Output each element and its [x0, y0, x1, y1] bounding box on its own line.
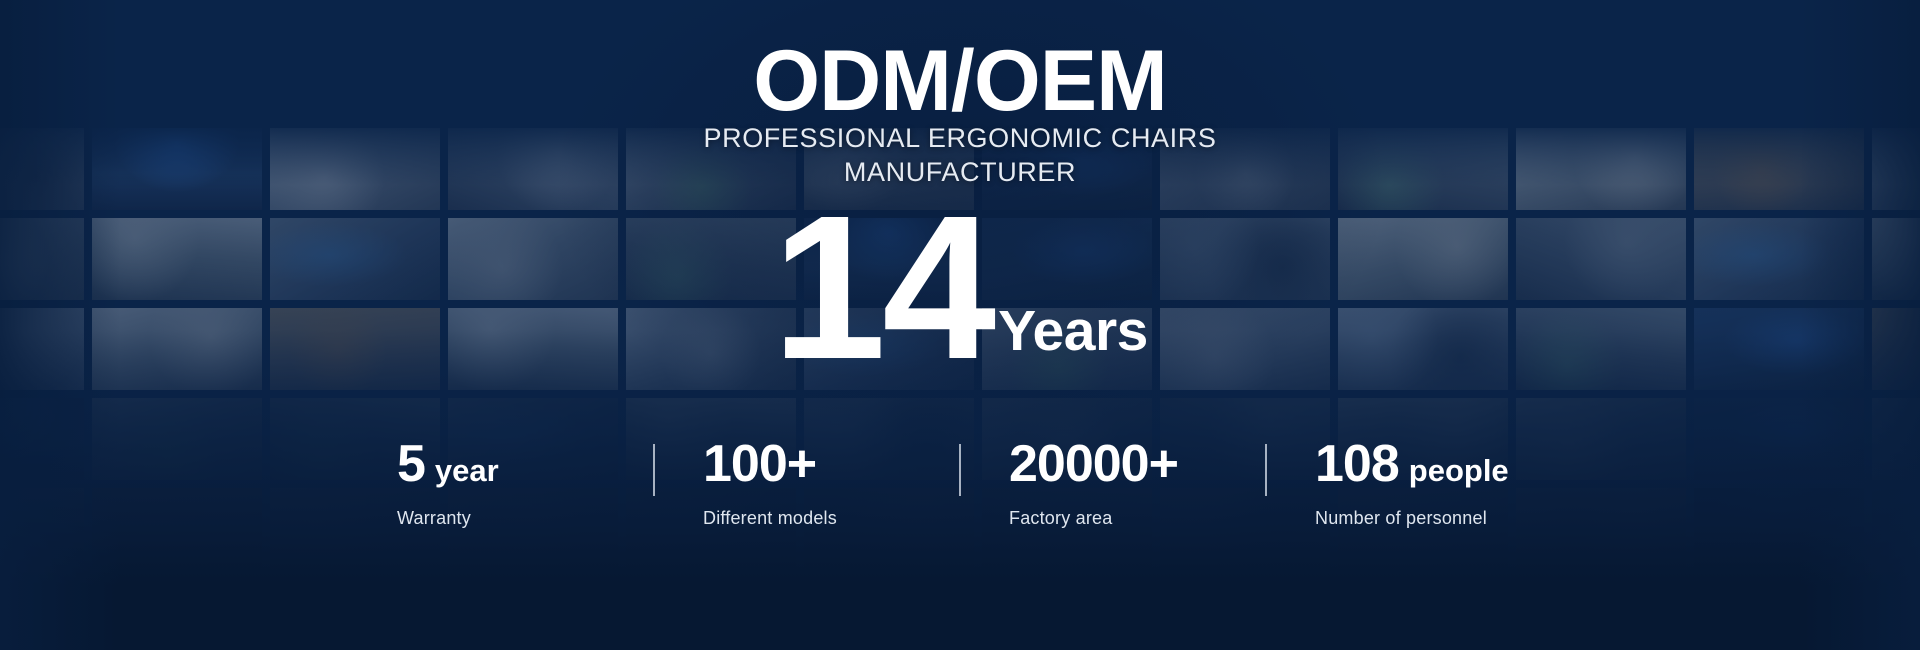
stat-headline: 108 people — [1315, 438, 1571, 490]
stat-headline: 20000+ — [1009, 438, 1265, 490]
stat-divider — [959, 444, 961, 496]
stat-headline: 5 year — [397, 438, 653, 490]
stat-item-personnel: 108 people Number of personnel — [1267, 438, 1571, 529]
stat-headline: 100+ — [703, 438, 959, 490]
banner-content: ODM/OEM PROFESSIONAL ERGONOMIC CHAIRS MA… — [0, 0, 1920, 650]
stat-value: 108 — [1315, 438, 1399, 490]
subtitle-line-1: PROFESSIONAL ERGONOMIC CHAIRS — [0, 122, 1920, 156]
years-number: 14 — [772, 200, 992, 376]
years-highlight: 14 Years — [0, 200, 1920, 376]
stat-unit: people — [1409, 455, 1509, 486]
banner-title: ODM/OEM — [0, 38, 1920, 124]
stat-value: 100+ — [703, 438, 816, 490]
stat-divider — [653, 444, 655, 496]
stat-caption: Factory area — [1009, 508, 1265, 529]
stat-caption: Number of personnel — [1315, 508, 1571, 529]
odm-oem-banner: ODM/OEM PROFESSIONAL ERGONOMIC CHAIRS MA… — [0, 0, 1920, 650]
stat-divider — [1265, 444, 1267, 496]
stat-unit: year — [435, 455, 499, 486]
stat-value: 20000+ — [1009, 438, 1178, 490]
stat-item-models: 100+ Different models — [655, 438, 959, 529]
stats-row: 5 year Warranty 100+ Different models 20… — [0, 438, 1920, 529]
stat-item-warranty: 5 year Warranty — [349, 438, 653, 529]
years-label: Years — [998, 303, 1148, 376]
stat-value: 5 — [397, 438, 425, 490]
stat-caption: Different models — [703, 508, 959, 529]
stat-item-factory-area: 20000+ Factory area — [961, 438, 1265, 529]
stat-caption: Warranty — [397, 508, 653, 529]
